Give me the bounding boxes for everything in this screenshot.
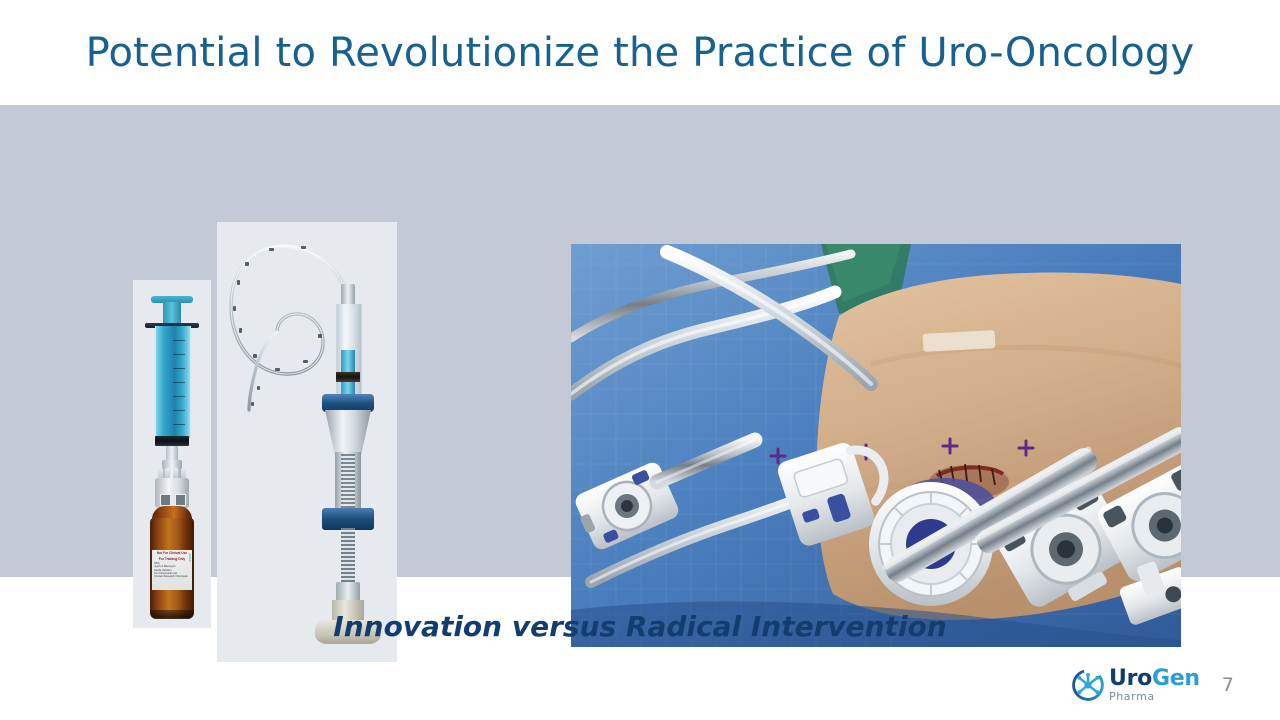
adapter-window [160,494,171,506]
syringe-barrel [155,326,191,438]
syringe-plunger-rod [163,302,181,324]
applicator-lower-lead-screw [341,528,355,586]
logo-tagline: Pharma [1109,691,1200,702]
applicator-lower-collar [322,508,374,530]
slide-canvas: Potential to Revolutionize the Practice … [0,0,1280,720]
syringe-graduation-mark [173,354,185,355]
vial-label-heading: Not For Clinical Use [154,552,190,556]
slide-title-area: Potential to Revolutionize the Practice … [0,0,1280,105]
slide-footer: UroGen Pharma 7 [1070,660,1260,710]
syringe-graduation-mark [173,340,185,341]
vial-and-syringe-image: Not For Clinical Use For Training Only N… [133,280,211,628]
urogen-logo-icon [1070,667,1106,703]
syringe-graduation-mark [173,424,185,425]
applicator-piston-band [336,372,360,382]
slide-page-number: 7 [1222,674,1234,696]
vial-figure-panel: Not For Clinical Use For Training Only N… [133,280,211,628]
vial-label-side-text: UroGen [188,553,191,562]
vial-adapter-body [155,478,189,508]
content-band: Not For Clinical Use For Training Only N… [0,105,1280,577]
adapter-window [175,494,186,506]
syringe-graduation-mark [173,368,185,369]
applicator-upper-collar [322,394,374,412]
surgery-photo [571,244,1181,647]
urogen-logo-text: UroGen Pharma [1109,668,1200,702]
logo-word-gen: Gen [1152,666,1200,691]
applicator-lead-screw [341,454,355,508]
vial-label-heading-2: For Training Only [154,558,190,562]
slide-subtitle-area: Innovation versus Radical Intervention [0,596,1280,656]
syringe-graduation-mark [173,410,185,411]
syringe-graduation-mark [173,396,185,397]
page-subtitle: Innovation versus Radical Intervention [333,610,946,643]
syringe-stopper [155,436,189,446]
syringe-graduation-mark [173,382,185,383]
logo-word-uro: Uro [1109,666,1152,691]
applicator-luer-tip [341,284,355,306]
page-title: Potential to Revolutionize the Practice … [86,33,1195,73]
vial-label: Not For Clinical Use For Training Only N… [152,550,192,590]
surgery-photo-illustration [571,244,1181,647]
logo-wordmark: UroGen [1109,668,1200,690]
vial-label-line: Contact Research Chemicals [154,575,190,578]
